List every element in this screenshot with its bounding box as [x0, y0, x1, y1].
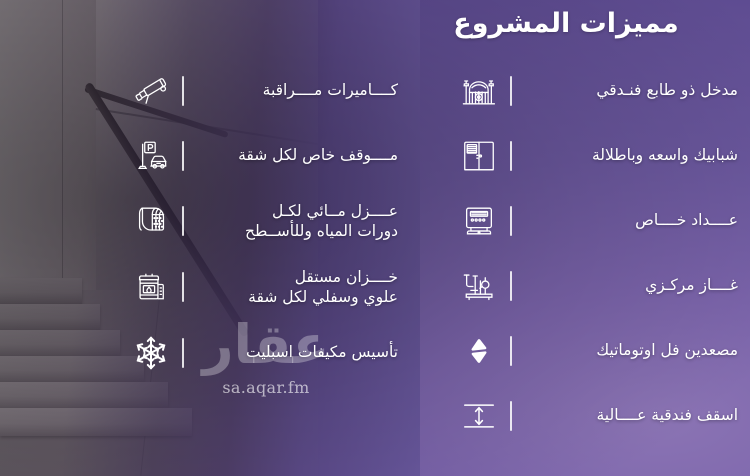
insulation-roll-icon	[130, 200, 172, 242]
feature-row-parking: مــــوقف خاص لكل شقة	[130, 123, 398, 188]
electric-meter-icon	[458, 200, 500, 242]
feature-row-split-ac: تأسيس مكيفات اسبليت	[130, 320, 398, 385]
feature-row-water-tanks: خــــزان مستقل علوي وسفلي لكل شقة	[130, 254, 398, 320]
feature-row-wide-windows: شبابيك واسعه وباطلالة	[458, 123, 738, 188]
divider	[510, 141, 512, 171]
features-column-left: كــــاميرات مــــراقبة مــــوقف خاص لكل …	[130, 58, 398, 385]
gate-icon	[458, 70, 500, 112]
feature-row-high-ceilings: اسقف فندقية عــــالية	[458, 383, 738, 448]
feature-label: غــــاز مركـزي	[522, 275, 738, 295]
divider	[182, 338, 184, 368]
page-title: مميزات المشروع	[406, 8, 726, 39]
feature-label: تأسيس مكيفات اسبليت	[194, 342, 398, 362]
gas-valve-icon	[458, 265, 500, 307]
water-tank-icon	[130, 266, 172, 308]
feature-row-elevators: مصعدين فل اوتوماتيك	[458, 318, 738, 383]
feature-label: خــــزان مستقل علوي وسفلي لكل شقة	[194, 267, 398, 308]
feature-label: اسقف فندقية عــــالية	[522, 405, 738, 425]
window-blinds-icon	[458, 135, 500, 177]
feature-label: شبابيك واسعه وباطلالة	[522, 145, 738, 165]
feature-label: عــــزل مــائي لكـل دورات المياه وللأســ…	[194, 201, 398, 242]
feature-row-hotel-entrance: مدخل ذو طابع فنـدقي	[458, 58, 738, 123]
snowflake-icon	[130, 332, 172, 374]
feature-label: مدخل ذو طابع فنـدقي	[522, 80, 738, 100]
feature-label: عــــداد خــــاص	[522, 210, 738, 230]
feature-row-cctv: كــــاميرات مــــراقبة	[130, 58, 398, 123]
divider	[510, 76, 512, 106]
cctv-camera-icon	[130, 70, 172, 112]
divider	[182, 206, 184, 236]
divider	[182, 272, 184, 302]
features-column-right: مدخل ذو طابع فنـدقي شبابيك واسعه و	[458, 58, 738, 448]
divider	[510, 271, 512, 301]
feature-row-central-gas: غــــاز مركـزي	[458, 253, 738, 318]
feature-label: مــــوقف خاص لكل شقة	[194, 145, 398, 165]
divider	[510, 206, 512, 236]
divider	[510, 336, 512, 366]
feature-label: كــــاميرات مــــراقبة	[194, 80, 398, 100]
parking-car-icon	[130, 135, 172, 177]
elevator-arrows-icon	[458, 330, 500, 372]
feature-row-private-meter: عــــداد خــــاص	[458, 188, 738, 253]
feature-row-waterproofing: عــــزل مــائي لكـل دورات المياه وللأســ…	[130, 188, 398, 254]
divider	[510, 401, 512, 431]
divider	[182, 141, 184, 171]
ceiling-height-icon	[458, 395, 500, 437]
project-features-card: مميزات المشروع عقار sa.aqar.fm مدخل ذو ط…	[0, 0, 750, 476]
divider	[182, 76, 184, 106]
feature-label: مصعدين فل اوتوماتيك	[522, 340, 738, 360]
